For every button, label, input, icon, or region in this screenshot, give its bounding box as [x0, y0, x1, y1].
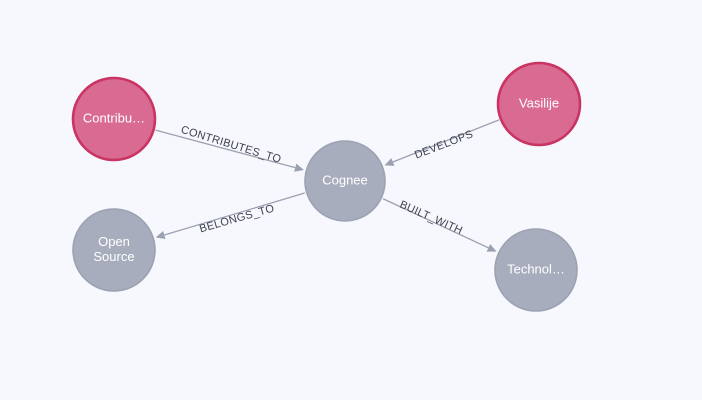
- edge-label-belongs_to: BELONGS_TO: [198, 202, 276, 235]
- node-label-open_source: Open: [98, 234, 130, 249]
- graph-node-vasilije[interactable]: Vasilije: [498, 63, 580, 145]
- edge-label-contributes_to: CONTRIBUTES_TO: [179, 124, 282, 166]
- graph-node-cognee[interactable]: Cognee: [305, 141, 385, 221]
- graph-visualization[interactable]: Contribu…VasilijeCogneeOpenSourceTechnol…: [0, 0, 702, 400]
- graph-edge-contributes_to[interactable]: [156, 130, 304, 172]
- graph-node-contributors[interactable]: Contribu…: [73, 78, 155, 160]
- node-label-cognee: Cognee: [322, 172, 368, 187]
- edge-label-built_with: BUILT_WITH: [398, 199, 465, 237]
- node-label-vasilije: Vasilije: [519, 95, 559, 110]
- edge-label-develops: DEVELOPS: [413, 128, 475, 161]
- node-label-contributors: Contribu…: [83, 110, 145, 125]
- graph-node-open_source[interactable]: OpenSource: [73, 209, 155, 291]
- graph-canvas[interactable]: Contribu…VasilijeCogneeOpenSourceTechnol…: [0, 0, 702, 400]
- edge-arrowhead-contributes_to: [294, 164, 304, 172]
- node-label-open_source: Source: [93, 249, 134, 264]
- node-label-technology: Technol…: [507, 261, 565, 276]
- graph-node-technology[interactable]: Technol…: [495, 229, 577, 311]
- edge-arrowhead-belongs_to: [156, 231, 166, 239]
- nodes-layer: Contribu…VasilijeCogneeOpenSourceTechnol…: [73, 63, 580, 311]
